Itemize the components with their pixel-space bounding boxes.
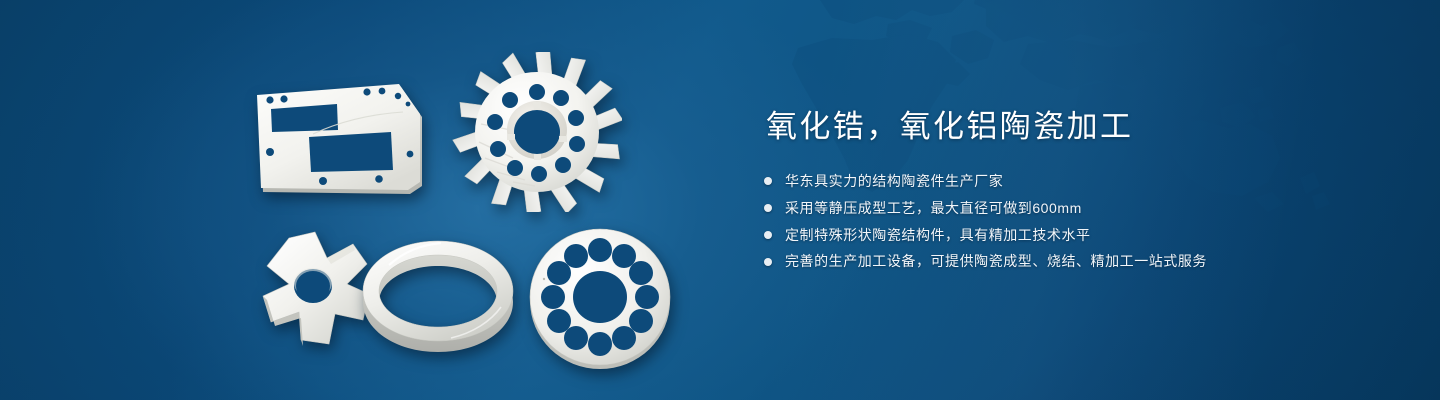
list-item: 华东具实力的结构陶瓷件生产厂家 — [764, 172, 1404, 191]
list-item: 采用等静压成型工艺，最大直径可做到600mm — [764, 199, 1404, 218]
list-item-label: 完善的生产加工设备，可提供陶瓷成型、烧结、精加工一站式服务 — [785, 252, 1207, 271]
promo-banner: 氧化锆，氧化铝陶瓷加工 华东具实力的结构陶瓷件生产厂家 采用等静压成型工艺，最大… — [0, 0, 1440, 400]
bullet-dot-icon — [764, 204, 772, 212]
text-column: 氧化锆，氧化铝陶瓷加工 华东具实力的结构陶瓷件生产厂家 采用等静压成型工艺，最大… — [764, 108, 1404, 271]
list-item-label: 定制特殊形状陶瓷结构件，具有精加工技术水平 — [785, 226, 1091, 245]
bullet-dot-icon — [764, 258, 772, 266]
feature-list: 华东具实力的结构陶瓷件生产厂家 采用等静压成型工艺，最大直径可做到600mm 定… — [764, 172, 1404, 272]
list-item: 完善的生产加工设备，可提供陶瓷成型、烧结、精加工一站式服务 — [764, 252, 1404, 271]
list-item: 定制特殊形状陶瓷结构件，具有精加工技术水平 — [764, 226, 1404, 245]
ceramic-impeller-disc — [452, 52, 622, 212]
ceramic-perforated-disc — [524, 225, 676, 371]
bullet-dot-icon — [764, 177, 772, 185]
ceramic-plate-with-cutouts — [253, 82, 428, 202]
list-item-label: 采用等静压成型工艺，最大直径可做到600mm — [785, 199, 1082, 218]
list-item-label: 华东具实力的结构陶瓷件生产厂家 — [785, 172, 1003, 191]
page-title: 氧化锆，氧化铝陶瓷加工 — [766, 108, 1404, 146]
product-group — [0, 0, 760, 400]
bullet-dot-icon — [764, 231, 772, 239]
ceramic-ring — [355, 237, 521, 359]
